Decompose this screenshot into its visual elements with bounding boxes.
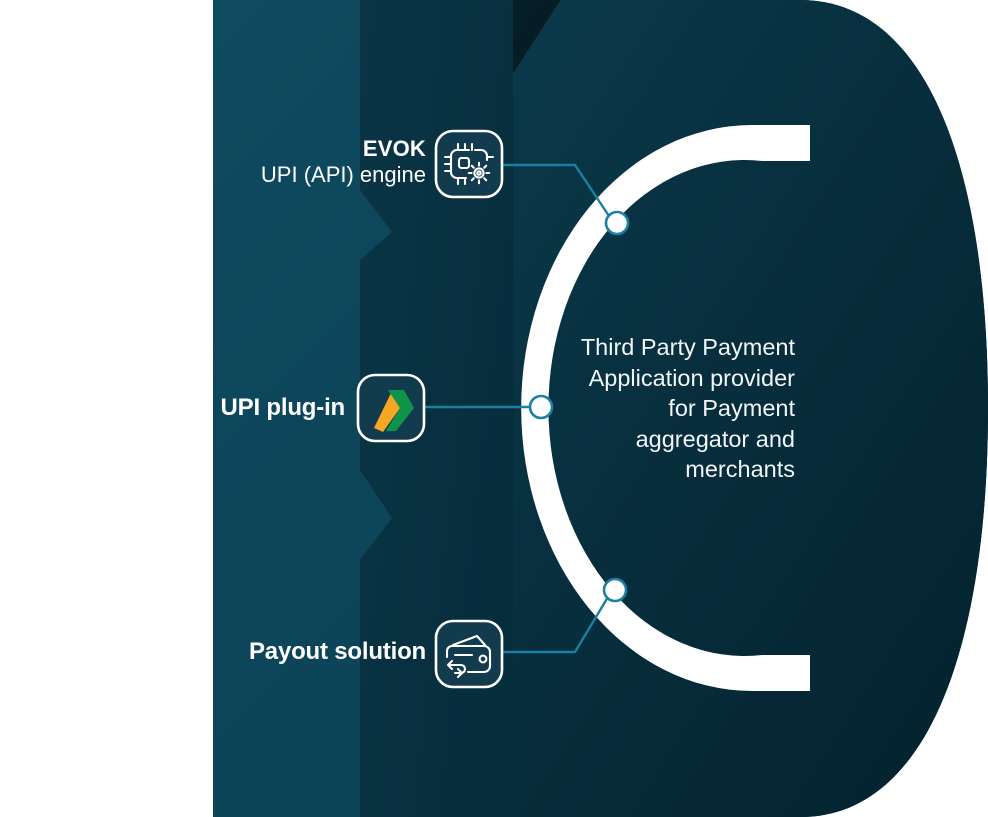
- node-label-payout: Payout solution: [120, 638, 426, 666]
- icon-tile-upi[interactable]: [358, 375, 424, 441]
- icon-tile-evok[interactable]: [436, 131, 502, 197]
- node-title-evok: EVOK: [170, 136, 426, 162]
- node-label-upi-plugin: UPI plug-in: [120, 394, 345, 422]
- node-subtitle-evok: UPI (API) engine: [170, 162, 426, 188]
- center-description-text: Third Party Payment Application provider…: [573, 332, 795, 485]
- icon-tile-payout[interactable]: [436, 621, 502, 687]
- node-label-evok: EVOK UPI (API) engine: [170, 136, 426, 188]
- connector-dot-payout[interactable]: [604, 579, 626, 601]
- connector-dot-evok[interactable]: [606, 212, 628, 234]
- connector-dot-upi[interactable]: [530, 396, 552, 418]
- diagram-canvas: EVOK UPI (API) engine UPI plug-in Payout…: [0, 0, 988, 817]
